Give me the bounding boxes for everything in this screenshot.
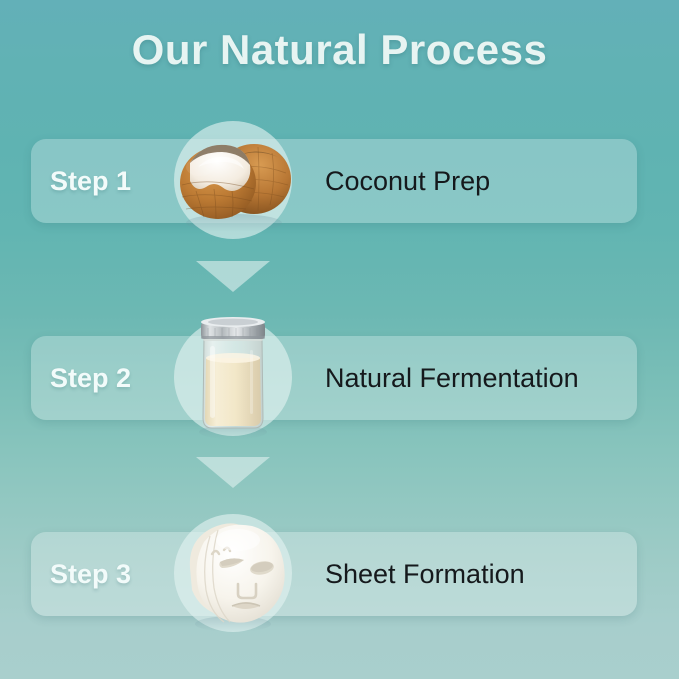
page-title: Our Natural Process xyxy=(0,26,679,74)
fermentation-jar-icon xyxy=(160,306,306,452)
step-text-1: Coconut Prep xyxy=(325,139,490,223)
coconut-icon xyxy=(160,107,306,253)
infographic-canvas: Our Natural Process Step 1 xyxy=(0,0,679,679)
sheet-mask-icon xyxy=(160,502,306,648)
step-text-3: Sheet Formation xyxy=(325,532,525,616)
arrow-down-2 xyxy=(196,457,270,488)
step-text-2: Natural Fermentation xyxy=(325,336,579,420)
arrow-down-1 xyxy=(196,261,270,292)
